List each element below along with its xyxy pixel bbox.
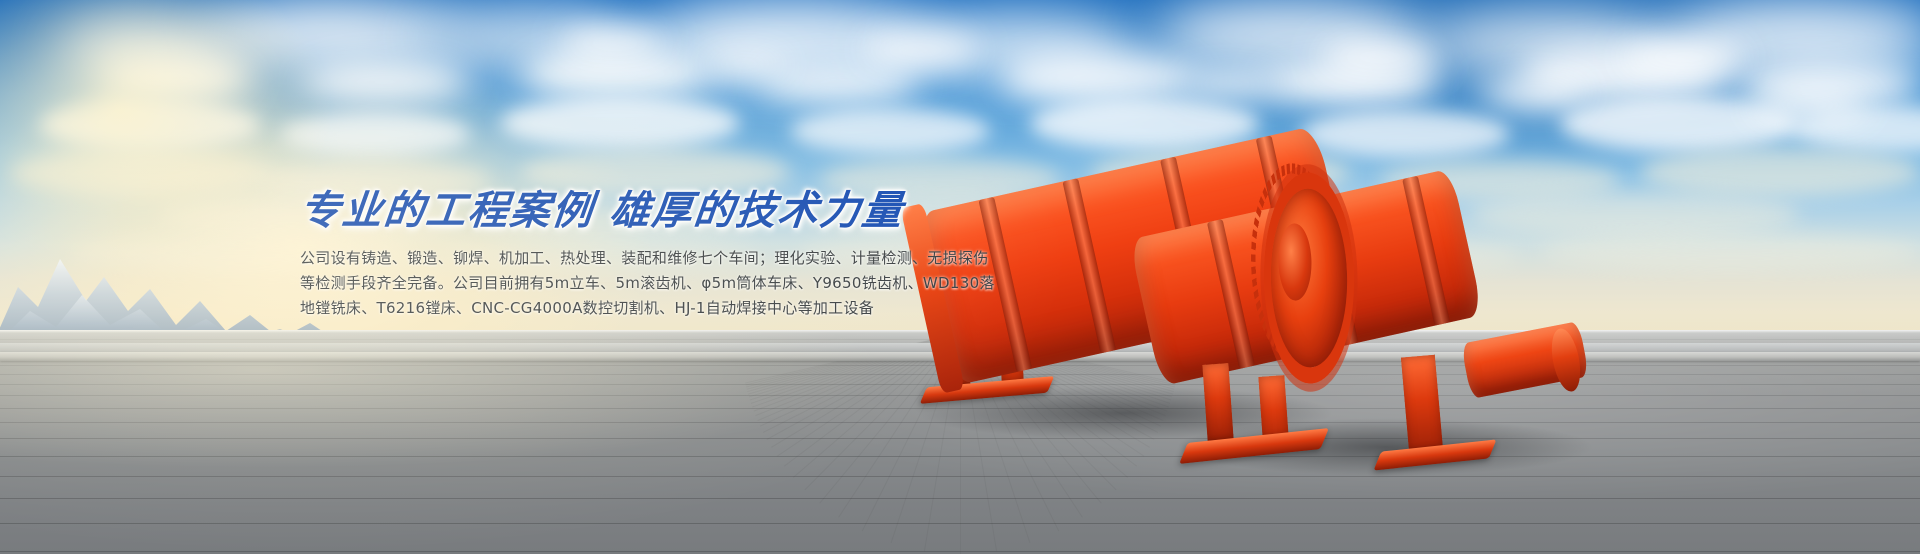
cloud-puff bbox=[1030, 98, 1260, 150]
cloud-puff bbox=[1620, 40, 1750, 74]
cloud-puff bbox=[1320, 40, 1440, 74]
description-line-1: 公司设有铸造、锻造、铆焊、机加工、热处理、装配和维修七个车间；理化实验、计量检测… bbox=[300, 246, 920, 271]
cloud-puff bbox=[790, 108, 990, 154]
hero-banner: 专业的工程案例 雄厚的技术力量 公司设有铸造、锻造、铆焊、机加工、热处理、装配和… bbox=[0, 0, 1920, 554]
shell-band-2 bbox=[1062, 178, 1116, 353]
support-frame-bearing bbox=[1401, 355, 1443, 454]
banner-headline: 专业的工程案例 雄厚的技术力量 bbox=[298, 188, 923, 234]
cloud-puff bbox=[1000, 50, 1200, 106]
shell2-band-3 bbox=[1402, 176, 1450, 326]
shell2-band-1 bbox=[1207, 219, 1255, 369]
cloud-puff bbox=[700, 52, 790, 76]
description-line-2: 等检测手段齐全完备。公司目前拥有5m立车、5m滚齿机、φ5m筒体车床、Y9650… bbox=[300, 271, 920, 296]
cloud-puff bbox=[1180, 70, 1280, 98]
cloud-puff bbox=[860, 34, 980, 66]
banner-copy: 专业的工程案例 雄厚的技术力量 公司设有铸造、锻造、铆焊、机加工、热处理、装配和… bbox=[300, 188, 920, 321]
cloud-puff bbox=[560, 28, 670, 58]
description-line-3: 地镗铣床、T6216镗床、CNC-CG4000A数控切割机、HJ-1自动焊接中心… bbox=[300, 296, 920, 321]
support-leg-right-1 bbox=[1202, 363, 1233, 441]
ball-mill-machine bbox=[905, 150, 1920, 480]
cloud-puff bbox=[1750, 90, 1870, 120]
banner-description: 公司设有铸造、锻造、铆焊、机加工、热处理、装配和维修七个车间；理化实验、计量检测… bbox=[300, 246, 920, 321]
cloud-puff bbox=[500, 96, 740, 150]
cloud-puff bbox=[1480, 78, 1590, 108]
